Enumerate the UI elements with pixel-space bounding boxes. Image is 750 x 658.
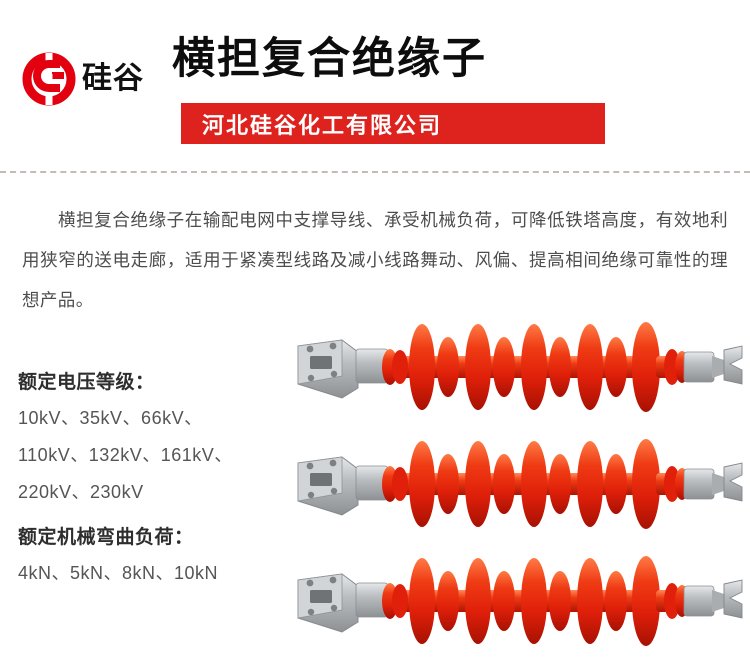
company-name-text: 河北硅谷化工有限公司 [202, 108, 442, 140]
spec-group-voltage: 额定电压等级： 10kV、35kV、66kV、 110kV、132kV、161k… [18, 366, 308, 511]
spec-heading-voltage: 额定电压等级： [18, 366, 308, 400]
product-detail-page: 硅谷 横担复合绝缘子 河北硅谷化工有限公司 横担复合绝缘子在输配电网中支撑导线、… [0, 0, 750, 658]
specifications-list: 额定电压等级： 10kV、35kV、66kV、 110kV、132kV、161k… [18, 366, 308, 594]
company-name-banner: 河北硅谷化工有限公司 [181, 103, 605, 144]
spec-value-voltage-3: 220kV、230kV [18, 474, 308, 511]
intro-paragraph: 横担复合绝缘子在输配电网中支撑导线、承受机械负荷，可降低铁塔高度，有效地利用狭窄… [22, 200, 728, 320]
spec-value-load-1: 4kN、5kN、8kN、10kN [18, 555, 308, 592]
brand-logo-text: 硅谷 [82, 64, 144, 94]
page-header: 硅谷 横担复合绝缘子 河北硅谷化工有限公司 [0, 0, 750, 172]
spec-value-voltage-2: 110kV、132kV、161kV、 [18, 437, 308, 474]
product-image-insulator-3 [280, 546, 750, 658]
product-image-insulator-1 [280, 312, 750, 424]
product-image-stack [280, 312, 750, 658]
spec-heading-load: 额定机械弯曲负荷： [18, 521, 308, 555]
silicon-valley-ring-logo-icon [22, 52, 76, 106]
product-image-insulator-2 [280, 429, 750, 541]
page-title: 横担复合绝缘子 [172, 36, 487, 82]
spec-group-load: 额定机械弯曲负荷： 4kN、5kN、8kN、10kN [18, 521, 308, 592]
header-divider [0, 171, 750, 173]
brand-logo: 硅谷 [22, 52, 144, 106]
spec-value-voltage-1: 10kV、35kV、66kV、 [18, 400, 308, 437]
